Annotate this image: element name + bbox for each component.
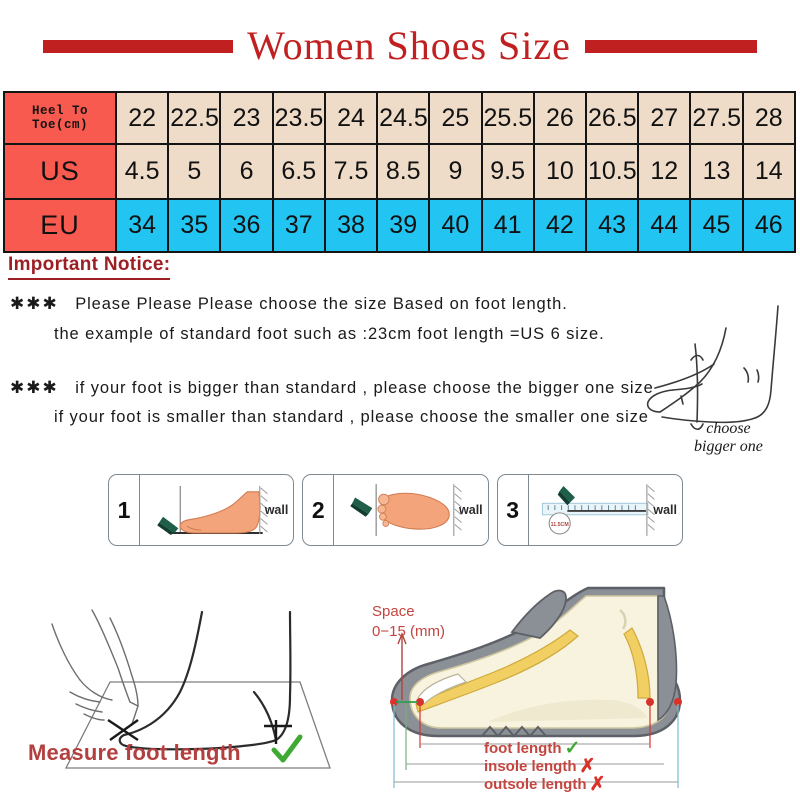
- cell-eu-5: 39: [377, 199, 429, 252]
- size-chart-table: Heel To Toe(cm) 22 22.5 23 23.5 24 24.5 …: [3, 91, 796, 253]
- row-label-eu: EU: [4, 199, 116, 252]
- notice-line-1: ✱✱✱ Please Please Please choose the size…: [10, 294, 568, 314]
- cell-heel-5: 24.5: [377, 92, 429, 144]
- step-number-2: 2: [303, 475, 334, 545]
- cell-heel-10: 27: [638, 92, 690, 144]
- cell-heel-11: 27.5: [690, 92, 742, 144]
- cell-us-8: 10: [534, 144, 586, 199]
- notice-text-3: if your foot is bigger than standard , p…: [75, 379, 653, 397]
- measurement-steps: 1: [108, 474, 683, 546]
- bullet-stars-2: ✱✱✱: [10, 378, 59, 397]
- notice-text-2: the example of standard foot such as :23…: [54, 325, 605, 343]
- table-row-eu: EU 34 35 36 37 38 39 40 41 42 43 44 45 4…: [4, 199, 795, 252]
- legend-label-foot-length: foot length: [484, 739, 561, 759]
- cell-us-12: 14: [743, 144, 795, 199]
- space-label-line2: 0−15 (mm): [372, 622, 445, 642]
- step-number-3: 3: [498, 475, 529, 545]
- cell-eu-8: 42: [534, 199, 586, 252]
- cell-heel-7: 25.5: [482, 92, 534, 144]
- step-3-illustration: 11.5CM wall: [529, 475, 682, 545]
- choose-bigger-caption: choose bigger one: [694, 420, 763, 457]
- bullet-stars-1: ✱✱✱: [10, 294, 59, 313]
- length-legend: foot length ✓ insole length ✗ outsole le…: [484, 740, 605, 794]
- step-1-illustration: wall: [140, 475, 293, 545]
- notice-line-4: if your foot is smaller than standard , …: [54, 408, 649, 427]
- table-row-us: US 4.5 5 6 6.5 7.5 8.5 9 9.5 10 10.5 12 …: [4, 144, 795, 199]
- notice-line-2: the example of standard foot such as :23…: [54, 325, 605, 344]
- page-title: Women Shoes Size: [233, 26, 585, 66]
- important-notice-heading: Important Notice:: [8, 254, 170, 280]
- cell-eu-12: 46: [743, 199, 795, 252]
- legend-label-outsole-length: outsole length: [484, 775, 587, 795]
- cell-eu-11: 45: [690, 199, 742, 252]
- table-row-heel-to-toe: Heel To Toe(cm) 22 22.5 23 23.5 24 24.5 …: [4, 92, 795, 144]
- notice-line-3: ✱✱✱ if your foot is bigger than standard…: [10, 378, 654, 398]
- cell-us-0: 4.5: [116, 144, 168, 199]
- cell-heel-4: 24: [325, 92, 377, 144]
- cell-us-10: 12: [638, 144, 690, 199]
- cell-us-6: 9: [429, 144, 481, 199]
- notice-text-4: if your foot is smaller than standard , …: [54, 408, 649, 426]
- measure-check-icon: [270, 733, 304, 767]
- cell-eu-6: 40: [429, 199, 481, 252]
- cell-heel-9: 26.5: [586, 92, 638, 144]
- cell-heel-0: 22: [116, 92, 168, 144]
- title-bar-left: [43, 40, 233, 53]
- step-2-illustration: wall: [334, 475, 487, 545]
- cell-eu-7: 41: [482, 199, 534, 252]
- cell-heel-2: 23: [220, 92, 272, 144]
- cell-eu-3: 37: [273, 199, 325, 252]
- legend-row-insole-length: insole length ✗: [484, 758, 605, 776]
- step-number-1: 1: [109, 475, 140, 545]
- cell-us-3: 6.5: [273, 144, 325, 199]
- step-panel-1: 1: [108, 474, 294, 546]
- cell-us-2: 6: [220, 144, 272, 199]
- cell-heel-12: 28: [743, 92, 795, 144]
- title-bar-right: [585, 40, 757, 53]
- legend-label-insole-length: insole length: [484, 757, 577, 777]
- measure-foot-length-caption: Measure foot length: [28, 740, 241, 766]
- cell-eu-4: 38: [325, 199, 377, 252]
- wall-label-1: wall: [265, 503, 289, 517]
- cell-eu-10: 44: [638, 199, 690, 252]
- space-label-line1: Space: [372, 602, 445, 622]
- cell-us-5: 8.5: [377, 144, 429, 199]
- cell-heel-6: 25: [429, 92, 481, 144]
- cell-eu-2: 36: [220, 199, 272, 252]
- cell-eu-9: 43: [586, 199, 638, 252]
- choose-caption-line2: bigger one: [694, 438, 763, 456]
- wall-label-2: wall: [459, 503, 483, 517]
- cell-us-11: 13: [690, 144, 742, 199]
- page-title-row: Women Shoes Size: [0, 18, 800, 74]
- cell-eu-1: 35: [168, 199, 220, 252]
- cell-heel-8: 26: [534, 92, 586, 144]
- cell-us-1: 5: [168, 144, 220, 199]
- ruler-badge-text: 11.5CM: [550, 522, 569, 528]
- cell-us-7: 9.5: [482, 144, 534, 199]
- cell-heel-1: 22.5: [168, 92, 220, 144]
- step-panel-2: 2: [302, 474, 488, 546]
- row-label-heel-to-toe: Heel To Toe(cm): [4, 92, 116, 144]
- cell-heel-3: 23.5: [273, 92, 325, 144]
- cross-icon-outsole-length: ✗: [590, 772, 606, 797]
- row-label-us: US: [4, 144, 116, 199]
- notice-text-1: Please Please Please choose the size Bas…: [75, 295, 568, 313]
- cell-us-4: 7.5: [325, 144, 377, 199]
- space-gap-label: Space 0−15 (mm): [372, 602, 445, 643]
- choose-caption-line1: choose: [694, 420, 763, 438]
- green-check-icon: [270, 733, 304, 767]
- step-panel-3: 3: [497, 474, 683, 546]
- cell-eu-0: 34: [116, 199, 168, 252]
- cell-us-9: 10.5: [586, 144, 638, 199]
- wall-label-3: wall: [653, 503, 677, 517]
